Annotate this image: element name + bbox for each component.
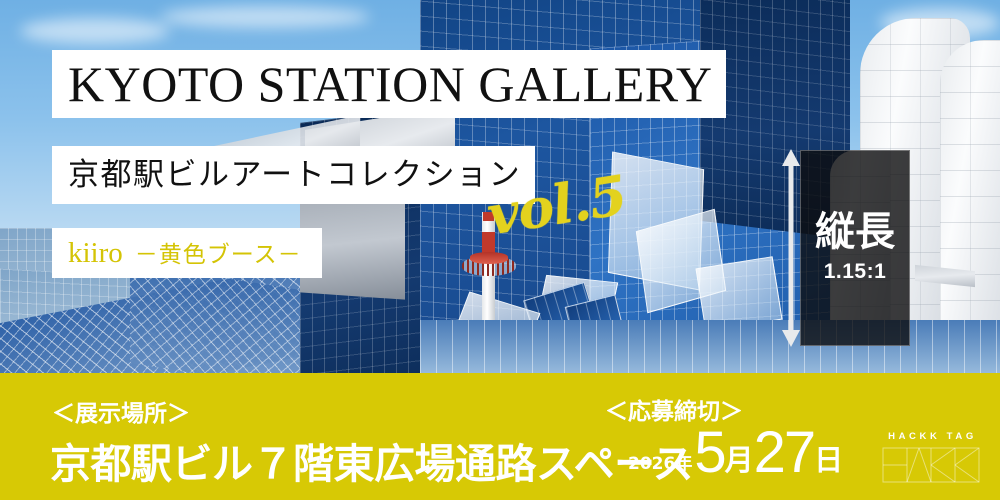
glass-grid-overlay (420, 320, 1000, 375)
title-english-text: KYOTO STATION GALLERY (68, 59, 712, 109)
deadline-day-unit: 日 (814, 446, 843, 475)
title-banner-english: KYOTO STATION GALLERY (52, 50, 726, 118)
booth-name-en: kiiro (68, 237, 123, 269)
deadline-day-number: 27 (754, 424, 815, 482)
deadline-month-number: 5 (694, 424, 724, 482)
exhibition-place-value: 京都駅ビル７階東広場通路スペース (50, 430, 693, 490)
booth-banner: kiiro－黄色ブース－ (52, 228, 322, 278)
deadline-year: 2026年 (628, 449, 692, 474)
booth-text: kiiro－黄色ブース－ (68, 239, 302, 268)
kyoto-tower-ring (470, 252, 508, 264)
aspect-ratio-box: 縦長 1.15:1 (800, 150, 910, 346)
application-deadline-value: 2026年 5 月 27 日 (628, 424, 843, 482)
orientation-label: 縦長 (815, 212, 895, 253)
kyoto-station-gallery-banner: KYOTO STATION GALLERY 京都駅ビルアートコレクション vol… (0, 0, 1000, 500)
cloud-shape (20, 18, 170, 44)
title-banner-japanese: 京都駅ビルアートコレクション (52, 146, 535, 204)
vertical-double-arrow-icon (780, 148, 802, 348)
hackk-geometric-logo-icon (882, 447, 980, 483)
ratio-value: 1.15:1 (824, 260, 887, 284)
booth-name-jp: －黄色ブース－ (135, 242, 302, 268)
deadline-month-unit: 月 (725, 446, 754, 475)
hackk-tag-wordmark: HACKK TAG (882, 432, 980, 442)
exhibition-place-label: ＜展示場所＞ (52, 394, 190, 428)
cloud-shape (160, 6, 370, 28)
hackk-tag-logo: HACKK TAG (882, 432, 980, 484)
title-japanese-text: 京都駅ビルアートコレクション (68, 160, 521, 191)
